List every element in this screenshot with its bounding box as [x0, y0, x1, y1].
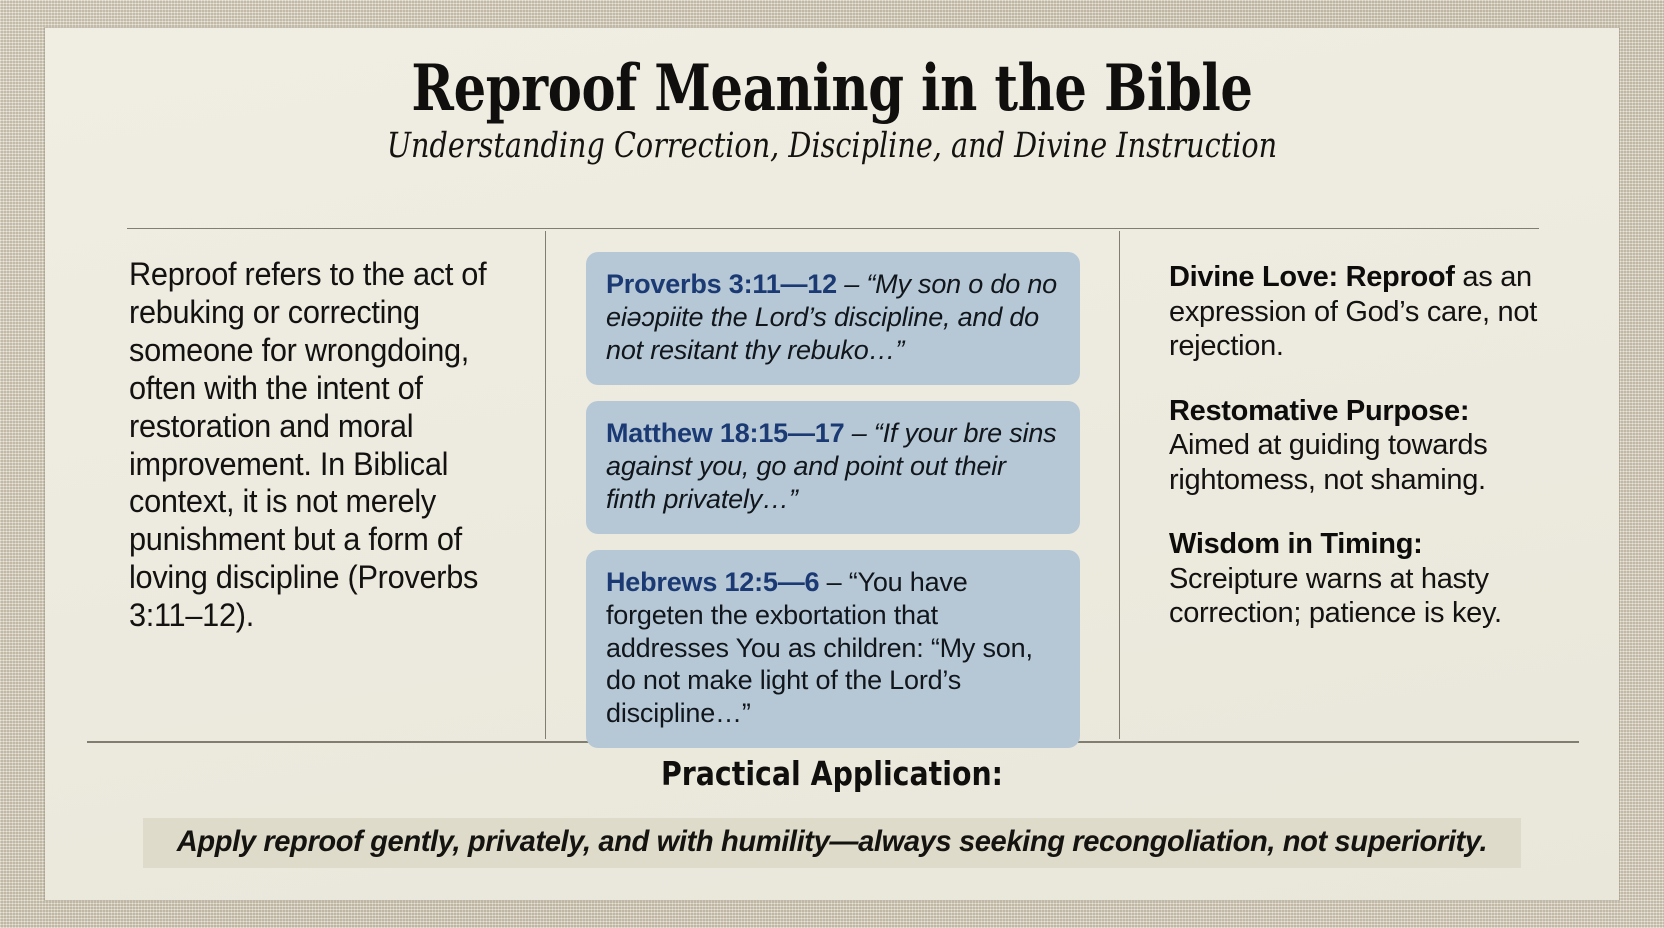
verse-text: Hebrews 12:5—6 – “You have forgeten the … [606, 566, 1060, 731]
scripture-column: Proverbs 3:11—12 – “My son o do no eiəɔp… [586, 252, 1080, 764]
verse-reference: Hebrews 12:5—6 [606, 567, 819, 597]
principle-body: Aimed at guiding towards rightomess, not… [1169, 429, 1487, 496]
principle-item: Divine Love: Reproof as an expression of… [1169, 260, 1541, 364]
definition-column: Reproof refers to the act of rebuking or… [129, 256, 521, 635]
divider-vertical-right [1119, 231, 1120, 739]
footer-banner: Apply reproof gently, privately, and wit… [143, 818, 1521, 868]
verse-reference: Proverbs 3:11—12 [606, 269, 837, 299]
page-subtitle: Understanding Correction, Discipline, an… [187, 123, 1478, 166]
definition-paragraph: Reproof refers to the act of rebuking or… [129, 256, 505, 635]
page-title: Reproof Meaning in the Bible [202, 28, 1461, 123]
poster-sheet: Reproof Meaning in the Bible Understandi… [45, 28, 1619, 900]
verse-card: Proverbs 3:11—12 – “My son o do no eiəɔp… [586, 252, 1080, 385]
footer-section: Practical Application: [45, 756, 1619, 792]
divider-vertical-left [545, 231, 546, 739]
principle-title: Wisdom in Timing: [1169, 528, 1422, 560]
verse-text: Matthew 18:15—17 – “If your bre sins aga… [606, 417, 1060, 516]
footer-heading: Practical Application: [155, 756, 1509, 792]
principle-body: Screipture warns at hasty correction; pa… [1169, 563, 1502, 630]
principles-column: Divine Love: Reproof as an expression of… [1169, 260, 1541, 661]
verse-reference: Matthew 18:15—17 [606, 418, 844, 448]
poster-header: Reproof Meaning in the Bible Understandi… [45, 28, 1619, 165]
principle-title: Divine Love: Reproof [1169, 261, 1455, 293]
verse-card: Hebrews 12:5—6 – “You have forgeten the … [586, 550, 1080, 749]
divider-top [127, 228, 1539, 229]
verse-card: Matthew 18:15—17 – “If your bre sins aga… [586, 401, 1080, 534]
footer-banner-text: Apply reproof gently, privately, and wit… [173, 825, 1490, 859]
principle-item: Wisdom in Timing: Screipture warns at ha… [1169, 527, 1541, 631]
principle-item: Restomative Purpose: Aimed at guiding to… [1169, 394, 1541, 498]
verse-text: Proverbs 3:11—12 – “My son o do no eiəɔp… [606, 268, 1060, 367]
principle-title: Restomative Purpose: [1169, 395, 1469, 427]
